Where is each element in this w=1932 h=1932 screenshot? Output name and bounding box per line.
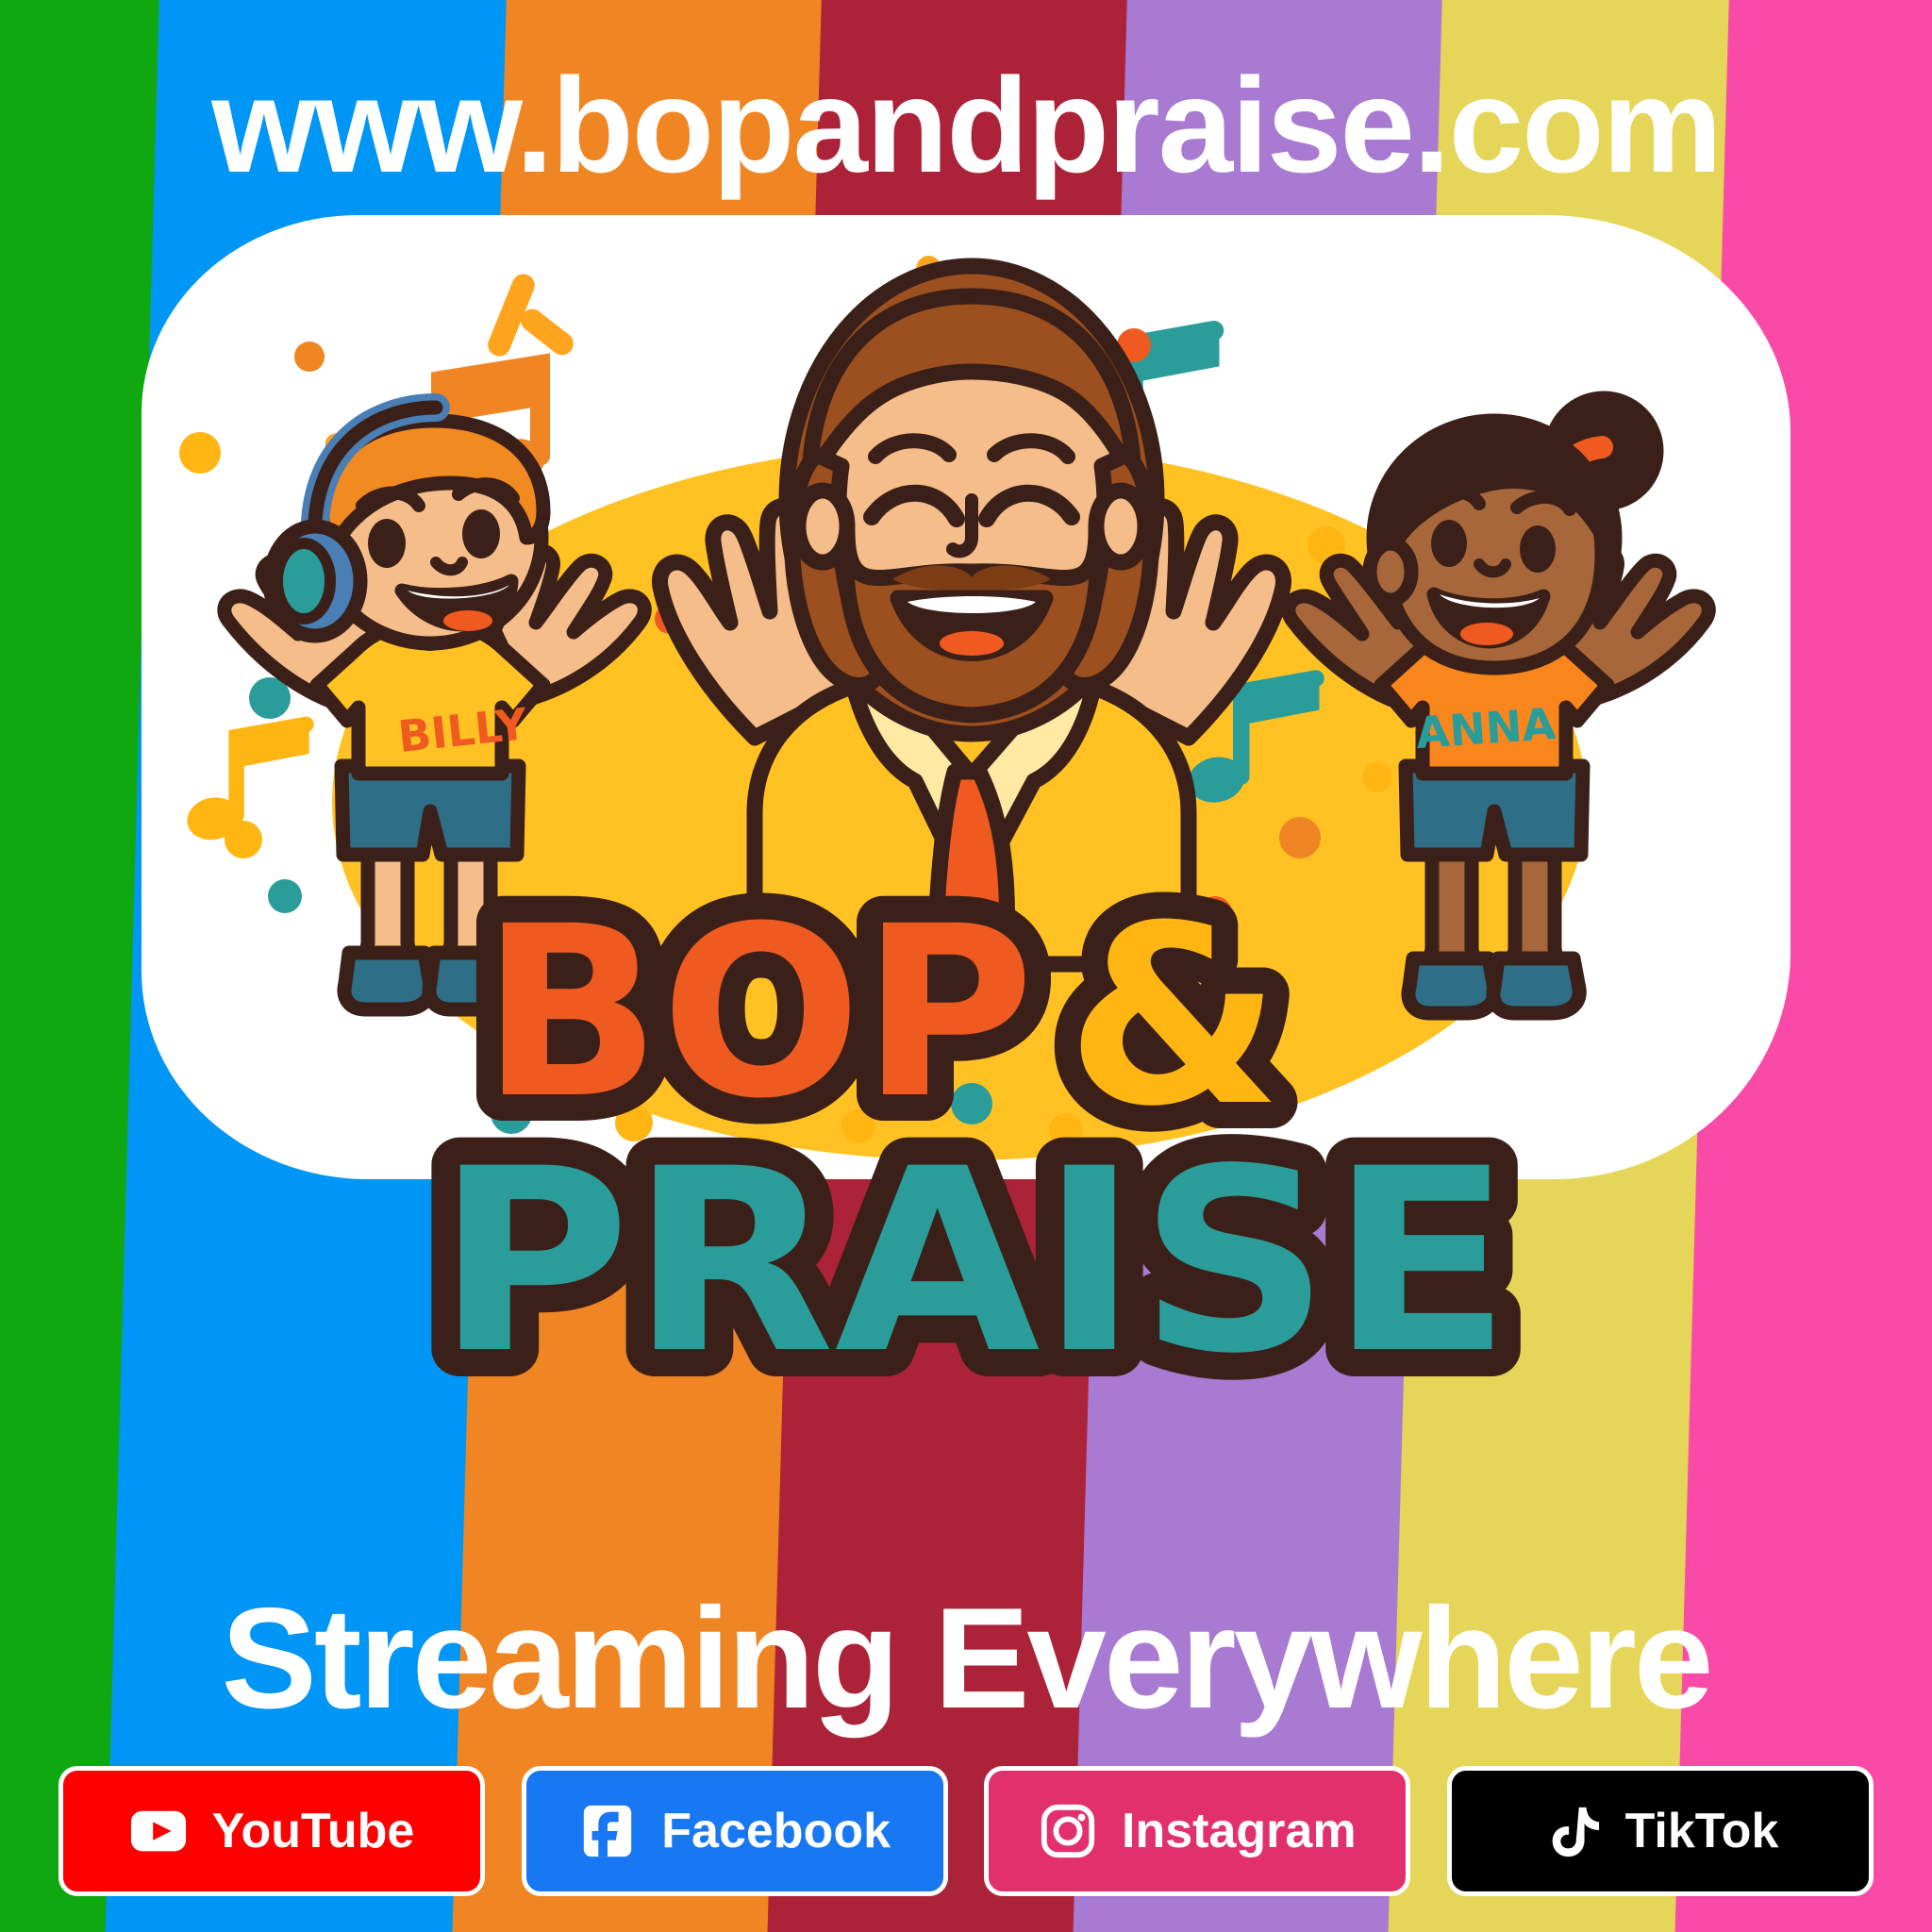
billy-tongue <box>443 610 492 631</box>
anna-shirt-name: ANNA <box>1414 698 1557 758</box>
instagram-icon <box>1039 1802 1097 1860</box>
social-button-instagram[interactable]: Instagram <box>984 1766 1410 1896</box>
jesus-tongue <box>940 631 1004 656</box>
logo-praise: PRAISE <box>436 1115 1511 1409</box>
social-label-tiktok: TikTok <box>1625 1803 1779 1859</box>
social-button-facebook[interactable]: Facebook <box>522 1766 948 1896</box>
social-label-youtube: YouTube <box>212 1803 415 1859</box>
anna-eye-left <box>1431 520 1467 567</box>
poster-canvas: BILLY <box>0 0 1932 1932</box>
youtube-icon <box>129 1802 188 1860</box>
social-button-youtube[interactable]: YouTube <box>58 1766 485 1896</box>
billy-shoe-left <box>344 953 430 1009</box>
tagline-heading: Streaming Everywhere <box>0 1587 1932 1730</box>
billy-headphone-pad <box>277 543 330 619</box>
social-buttons-row: YouTube Facebook Instagram TikTok <box>58 1766 1874 1896</box>
anna-ear <box>1370 543 1411 600</box>
brand-logotype: BOP BOP & & PRAISE PRAISE <box>453 877 1509 1406</box>
website-url-heading: www.bopandpraise.com <box>0 58 1932 193</box>
facebook-icon <box>578 1802 637 1860</box>
billy-eye-right <box>462 509 500 558</box>
social-label-facebook: Facebook <box>661 1803 891 1859</box>
anna-tongue <box>1460 623 1513 645</box>
social-label-instagram: Instagram <box>1122 1803 1357 1859</box>
anna-eye-right <box>1520 525 1556 573</box>
billy-eye-left <box>368 519 406 568</box>
social-button-tiktok[interactable]: TikTok <box>1447 1766 1874 1896</box>
logo-bop: BOP <box>481 875 1034 1150</box>
tiktok-icon <box>1542 1802 1601 1860</box>
